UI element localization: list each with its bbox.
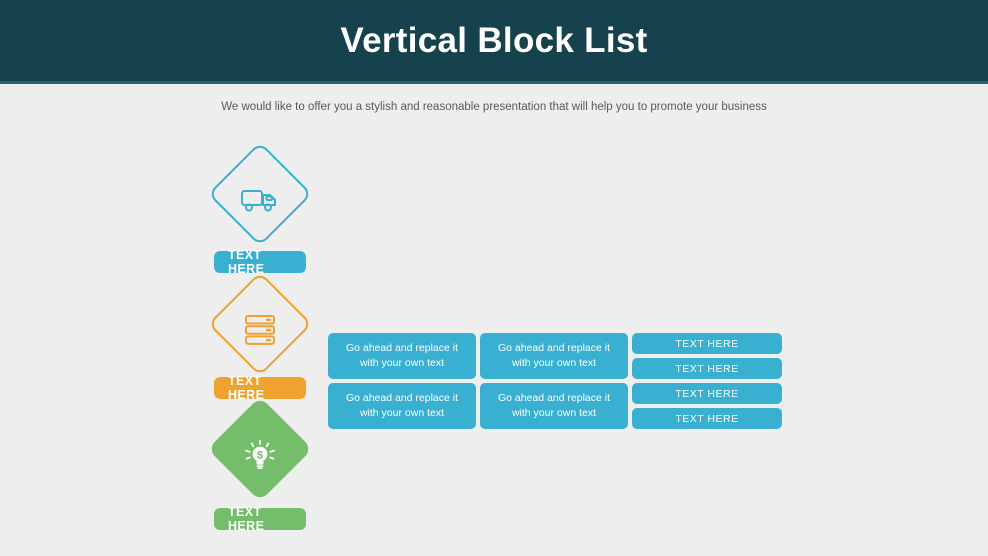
lightbulb-dollar-icon: $ [233,434,287,476]
badge-orange[interactable]: TEXT HERE [196,285,324,405]
content-row-blue: TEXT HERE Go ahead and replace it with y… [0,155,988,275]
badge-label-blue[interactable]: TEXT HERE [214,251,306,273]
content-row-green: $ TEXT HERE Go ahead and replace it with… [0,410,988,530]
slide-header: Vertical Block List [0,0,988,84]
badge-label-orange[interactable]: TEXT HERE [214,377,306,399]
slide-subtitle: We would like to offer you a stylish and… [0,101,988,113]
svg-text:$: $ [257,450,263,462]
server-stack-icon [233,309,287,351]
slide-canvas: Vertical Block List We would like to off… [0,0,988,556]
badge-green[interactable]: $ TEXT HERE [196,410,324,530]
delivery-truck-icon [233,179,287,221]
badge-blue[interactable]: TEXT HERE [196,155,324,275]
content-row-orange: TEXT HERE Go ahead and replace it with y… [0,285,988,400]
badge-label-green[interactable]: TEXT HERE [214,508,306,530]
page-title: Vertical Block List [340,21,647,61]
